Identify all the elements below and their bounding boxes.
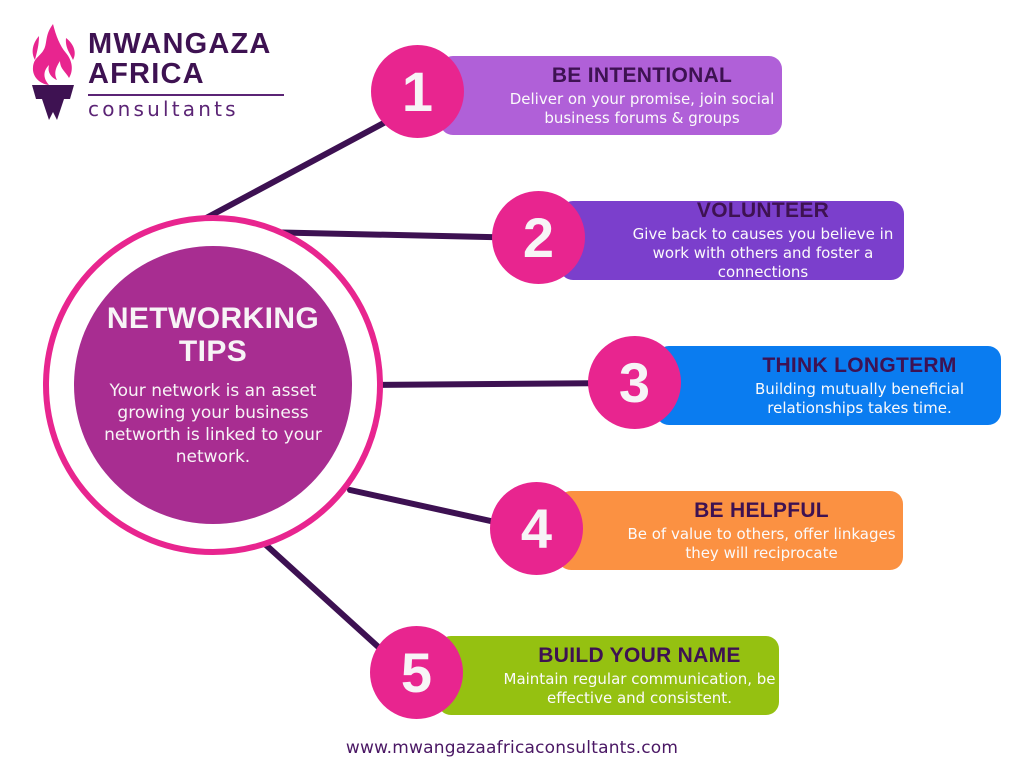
torch-flame-icon: [22, 22, 84, 122]
tip-number-badge-5: 5: [370, 626, 463, 719]
tip-description-4: Be of value to others, offer linkages th…: [620, 525, 903, 563]
tip-description-1: Deliver on your promise, join social bus…: [502, 90, 782, 128]
tip-title-5: BUILD YOUR NAME: [538, 644, 740, 668]
tip-number-badge-2: 2: [492, 191, 585, 284]
infographic-canvas: MWANGAZA AFRICA consultants NETWORKING T…: [0, 0, 1024, 768]
tip-number-badge-4: 4: [490, 482, 583, 575]
tip-description-5: Maintain regular communication, be effec…: [500, 670, 779, 708]
logo-divider: [88, 94, 284, 96]
footer-website[interactable]: www.mwangazaafricaconsultants.com: [0, 738, 1024, 758]
brand-logo: MWANGAZA AFRICA consultants: [22, 22, 302, 127]
brand-name-line1: MWANGAZA: [88, 29, 298, 59]
tip-card-4[interactable]: BE HELPFUL Be of value to others, offer …: [558, 491, 903, 570]
hub-description: Your network is an asset growing your bu…: [100, 380, 326, 468]
hub-title: NETWORKING TIPS: [100, 302, 326, 368]
tip-card-3[interactable]: THINK LONGTERM Building mutually benefic…: [656, 346, 1001, 425]
tip-description-3: Building mutually beneficial relationshi…: [718, 380, 1001, 418]
brand-name-line2: AFRICA: [88, 59, 298, 89]
tip-title-1: BE INTENTIONAL: [552, 64, 732, 88]
tip-number-badge-1: 1: [371, 45, 464, 138]
tip-title-2: VOLUNTEER: [697, 199, 829, 223]
hub-center: NETWORKING TIPS Your network is an asset…: [74, 246, 352, 524]
tip-number-badge-3: 3: [588, 336, 681, 429]
tip-title-3: THINK LONGTERM: [762, 354, 956, 378]
brand-wordmark: MWANGAZA AFRICA consultants: [88, 29, 298, 120]
tip-card-2[interactable]: VOLUNTEER Give back to causes you believ…: [560, 201, 904, 280]
tip-card-1[interactable]: BE INTENTIONAL Deliver on your promise, …: [440, 56, 782, 135]
tip-title-4: BE HELPFUL: [694, 499, 829, 523]
brand-tagline: consultants: [88, 98, 298, 120]
connector-line-3: [370, 383, 625, 385]
tip-description-2: Give back to causes you believe in work …: [622, 225, 904, 282]
tip-card-5[interactable]: BUILD YOUR NAME Maintain regular communi…: [438, 636, 779, 715]
